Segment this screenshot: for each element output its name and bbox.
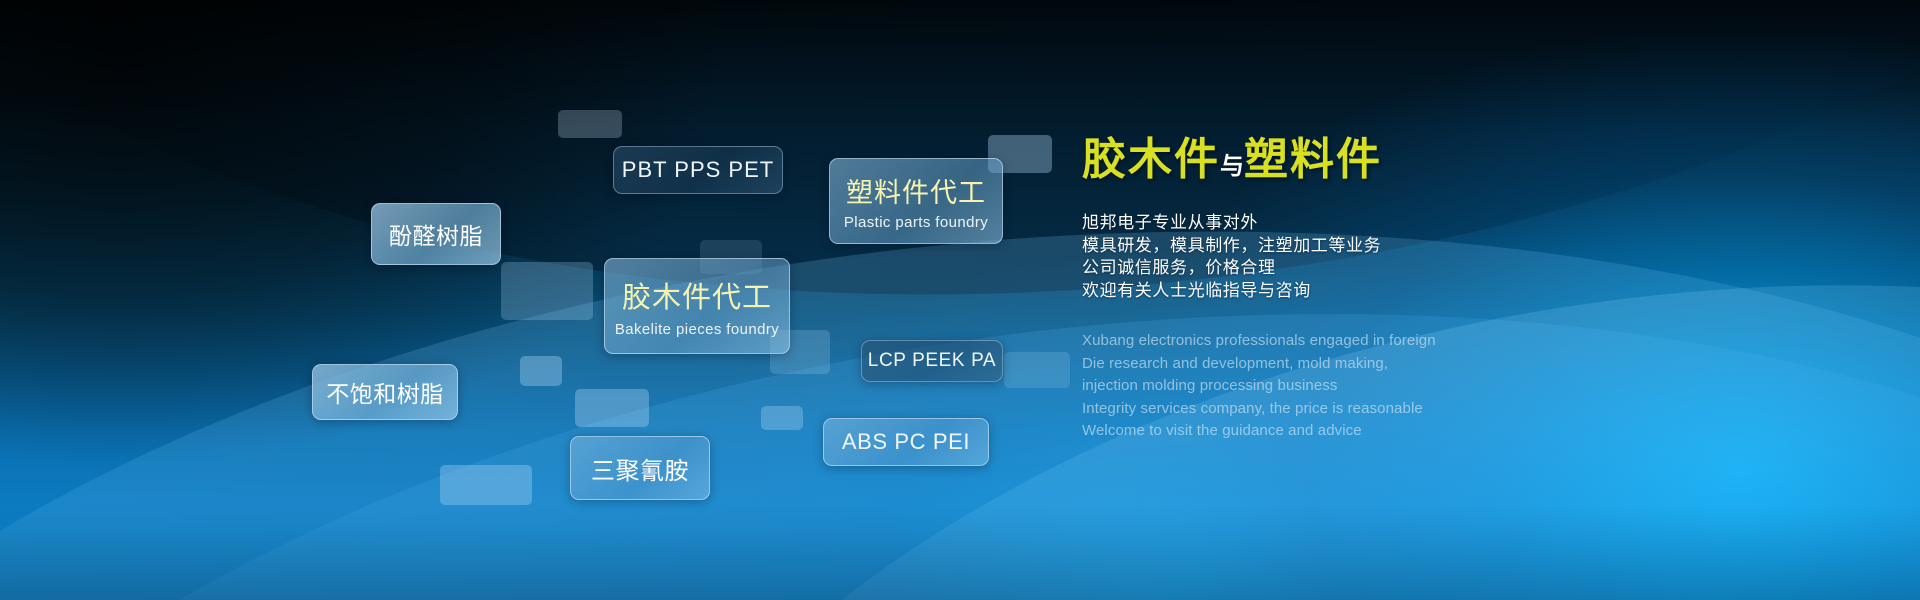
banner-en-description: Xubang electronics professionals engaged…	[1082, 330, 1502, 443]
decorative-rect	[520, 356, 562, 386]
banner-title-conjunction: 与	[1220, 153, 1244, 180]
en-line: Die research and development, mold makin…	[1082, 353, 1502, 376]
en-line: Welcome to visit the guidance and advice	[1082, 420, 1502, 443]
en-line: Integrity services company, the price is…	[1082, 398, 1502, 421]
card-cn-label: 三聚氰胺	[591, 451, 689, 486]
card-unsaturated[interactable]: 不饱和树脂	[312, 364, 458, 420]
card-en-label: Bakelite pieces foundry	[615, 321, 779, 338]
decorative-rect	[501, 262, 593, 320]
decorative-rect	[761, 406, 803, 430]
card-abs-pc-pei[interactable]: ABS PC PEI	[823, 418, 989, 466]
decorative-rect	[575, 389, 649, 427]
card-code-label: ABS PC PEI	[842, 429, 970, 455]
card-cn-label: 塑料件代工	[846, 171, 986, 210]
en-line: injection molding processing business	[1082, 375, 1502, 398]
card-cn-label: 胶木件代工	[622, 274, 772, 316]
card-code-label: PBT PPS PET	[622, 157, 774, 183]
banner-title-part2: 塑料件	[1244, 135, 1382, 184]
card-bakelite-foundry[interactable]: 胶木件代工 Bakelite pieces foundry	[604, 258, 790, 354]
cn-line: 公司诚信服务，价格合理	[1082, 257, 1502, 280]
card-cn-label: 不饱和树脂	[326, 375, 444, 409]
card-pbt-pps-pet[interactable]: PBT PPS PET	[613, 146, 783, 194]
banner-title-part1: 胶木件	[1082, 135, 1220, 184]
cn-line: 模具研发，模具制作，注塑加工等业务	[1082, 235, 1502, 258]
cn-line: 欢迎有关人士光临指导与咨询	[1082, 280, 1502, 303]
banner-cn-description: 旭邦电子专业从事对外 模具研发，模具制作，注塑加工等业务 公司诚信服务，价格合理…	[1082, 212, 1502, 302]
en-line: Xubang electronics professionals engaged…	[1082, 330, 1502, 353]
decorative-rect	[440, 465, 532, 505]
card-cn-label: 酚醛树脂	[389, 217, 483, 251]
card-plastic-foundry[interactable]: 塑料件代工 Plastic parts foundry	[829, 158, 1003, 244]
card-code-label: LCP PEEK PA	[868, 350, 996, 372]
cn-line: 旭邦电子专业从事对外	[1082, 212, 1502, 235]
banner-text-panel: 胶木件与塑料件 旭邦电子专业从事对外 模具研发，模具制作，注塑加工等业务 公司诚…	[1082, 138, 1502, 443]
card-lcp-peek-pa[interactable]: LCP PEEK PA	[861, 340, 1003, 382]
promo-banner: PBT PPS PET 酚醛树脂 塑料件代工 Plastic parts fou…	[0, 0, 1920, 600]
card-melamine[interactable]: 三聚氰胺	[570, 436, 710, 500]
decorative-rect	[1004, 352, 1070, 388]
decorative-rect	[558, 110, 622, 138]
card-phenolic[interactable]: 酚醛树脂	[371, 203, 501, 265]
banner-title: 胶木件与塑料件	[1082, 138, 1502, 182]
card-en-label: Plastic parts foundry	[844, 214, 988, 231]
